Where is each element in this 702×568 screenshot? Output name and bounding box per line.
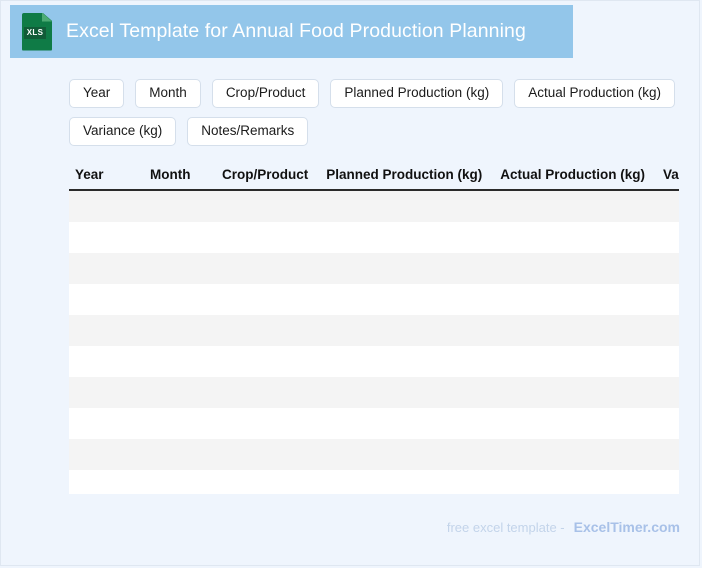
table-row[interactable] (69, 346, 679, 377)
table-cell[interactable] (491, 190, 654, 222)
table-cell[interactable] (317, 470, 491, 494)
table-cell[interactable] (654, 315, 679, 346)
table-cell[interactable] (213, 222, 317, 253)
table-row[interactable] (69, 284, 679, 315)
table-cell[interactable] (317, 222, 491, 253)
table-body (69, 190, 679, 494)
table-cell[interactable] (213, 284, 317, 315)
table-cell[interactable] (317, 190, 491, 222)
data-table-container[interactable]: Year Month Crop/Product Planned Producti… (69, 164, 679, 494)
page-header-band: XLS Excel Template for Annual Food Produ… (10, 5, 573, 58)
table-cell[interactable] (69, 190, 141, 222)
table-cell[interactable] (317, 377, 491, 408)
table-cell[interactable] (141, 346, 213, 377)
table-cell[interactable] (69, 408, 141, 439)
table-cell[interactable] (213, 315, 317, 346)
table-cell[interactable] (654, 346, 679, 377)
table-cell[interactable] (654, 470, 679, 494)
column-header-variance[interactable]: Variance (kg) (654, 164, 679, 190)
table-row[interactable] (69, 408, 679, 439)
xls-icon-label: XLS (24, 27, 46, 39)
table-cell[interactable] (69, 439, 141, 470)
column-header-crop-product[interactable]: Crop/Product (213, 164, 317, 190)
table-cell[interactable] (654, 222, 679, 253)
chip-actual-production[interactable]: Actual Production (kg) (514, 79, 675, 108)
footer-note: free excel template - (447, 520, 565, 535)
table-header: Year Month Crop/Product Planned Producti… (69, 164, 679, 190)
table-row[interactable] (69, 190, 679, 222)
chip-month[interactable]: Month (135, 79, 201, 108)
table-cell[interactable] (491, 408, 654, 439)
table-header-row: Year Month Crop/Product Planned Producti… (69, 164, 679, 190)
table-cell[interactable] (491, 470, 654, 494)
table-cell[interactable] (69, 284, 141, 315)
column-header-actual-production[interactable]: Actual Production (kg) (491, 164, 654, 190)
chip-planned-production[interactable]: Planned Production (kg) (330, 79, 503, 108)
table-cell[interactable] (491, 222, 654, 253)
table-cell[interactable] (69, 222, 141, 253)
table-cell[interactable] (213, 377, 317, 408)
table-cell[interactable] (317, 253, 491, 284)
table-cell[interactable] (491, 284, 654, 315)
field-chip-list: Year Month Crop/Product Planned Producti… (69, 79, 681, 146)
table-cell[interactable] (213, 408, 317, 439)
table-cell[interactable] (654, 408, 679, 439)
table-cell[interactable] (654, 439, 679, 470)
table-row[interactable] (69, 439, 679, 470)
footer: free excel template - ExcelTimer.com (447, 519, 680, 535)
table-cell[interactable] (654, 253, 679, 284)
table-cell[interactable] (141, 315, 213, 346)
table-cell[interactable] (141, 253, 213, 284)
table-cell[interactable] (491, 315, 654, 346)
xls-file-icon: XLS (22, 13, 52, 51)
table-cell[interactable] (141, 470, 213, 494)
table-cell[interactable] (491, 439, 654, 470)
page-title: Excel Template for Annual Food Productio… (66, 20, 526, 43)
table-row[interactable] (69, 315, 679, 346)
table-cell[interactable] (317, 346, 491, 377)
table-cell[interactable] (654, 190, 679, 222)
table-cell[interactable] (317, 284, 491, 315)
table-cell[interactable] (491, 377, 654, 408)
table-cell[interactable] (69, 377, 141, 408)
table-row[interactable] (69, 377, 679, 408)
table-row[interactable] (69, 253, 679, 284)
table-cell[interactable] (141, 284, 213, 315)
table-cell[interactable] (141, 439, 213, 470)
table-cell[interactable] (317, 439, 491, 470)
table-cell[interactable] (141, 190, 213, 222)
table-cell[interactable] (317, 408, 491, 439)
footer-brand: ExcelTimer.com (574, 519, 680, 535)
column-header-year[interactable]: Year (69, 164, 141, 190)
chip-notes-remarks[interactable]: Notes/Remarks (187, 117, 308, 146)
table-cell[interactable] (69, 253, 141, 284)
table-row[interactable] (69, 470, 679, 494)
xls-icon-fold (42, 13, 52, 22)
chip-year[interactable]: Year (69, 79, 124, 108)
table-cell[interactable] (213, 190, 317, 222)
data-table: Year Month Crop/Product Planned Producti… (69, 164, 679, 494)
table-cell[interactable] (491, 253, 654, 284)
template-page: XLS Excel Template for Annual Food Produ… (0, 0, 700, 566)
table-cell[interactable] (69, 315, 141, 346)
table-cell[interactable] (141, 377, 213, 408)
table-cell[interactable] (213, 253, 317, 284)
table-cell[interactable] (654, 377, 679, 408)
table-cell[interactable] (213, 439, 317, 470)
table-cell[interactable] (141, 408, 213, 439)
chip-variance[interactable]: Variance (kg) (69, 117, 176, 146)
table-cell[interactable] (317, 315, 491, 346)
table-cell[interactable] (213, 470, 317, 494)
table-cell[interactable] (69, 470, 141, 494)
table-cell[interactable] (141, 222, 213, 253)
table-cell[interactable] (213, 346, 317, 377)
table-cell[interactable] (69, 346, 141, 377)
table-cell[interactable] (491, 346, 654, 377)
chip-crop-product[interactable]: Crop/Product (212, 79, 320, 108)
table-cell[interactable] (654, 284, 679, 315)
table-row[interactable] (69, 222, 679, 253)
column-header-planned-production[interactable]: Planned Production (kg) (317, 164, 491, 190)
column-header-month[interactable]: Month (141, 164, 213, 190)
